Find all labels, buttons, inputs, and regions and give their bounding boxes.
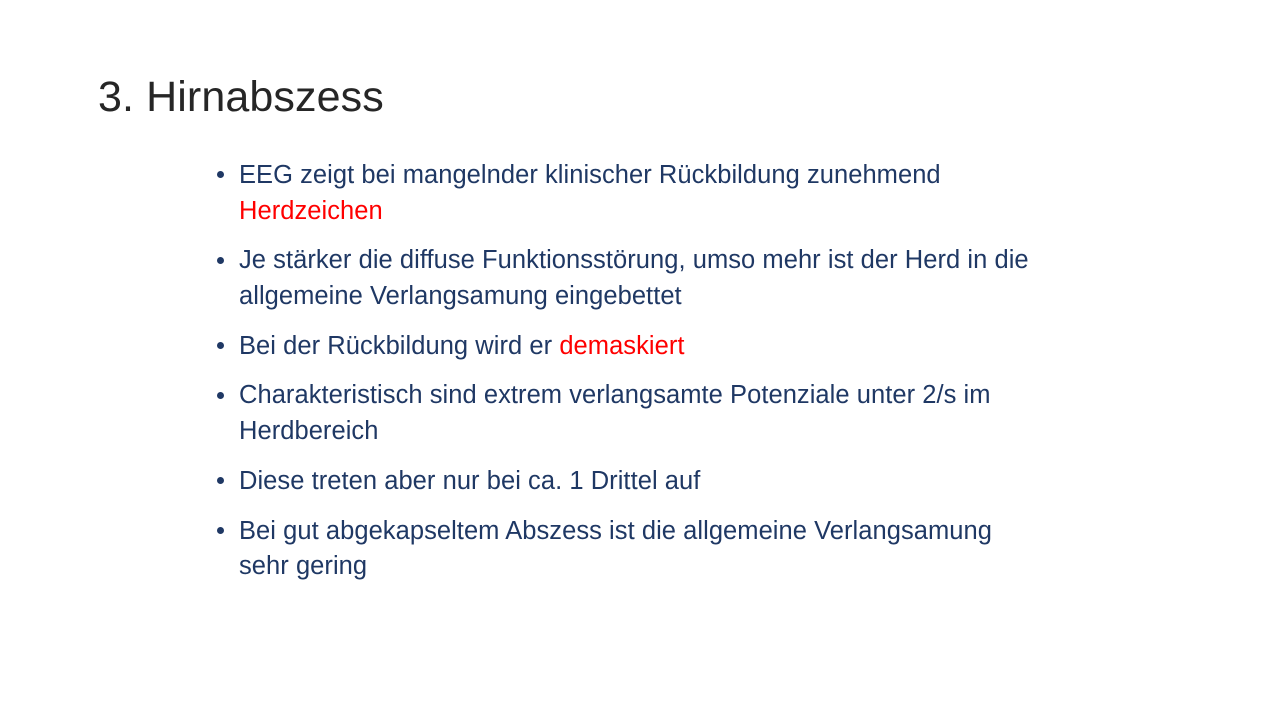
text-run: Diese treten aber nur bei ca. 1 Drittel … [239,467,700,495]
bullet-text: Je stärker die diffuse Funktionsstörung,… [239,243,1072,314]
bullet-dot-icon [217,477,224,484]
text-run: EEG zeigt bei mangelnder klinischer Rück… [239,161,941,189]
list-item: Je stärker die diffuse Funktionsstörung,… [212,243,1072,314]
bullet-dot-icon [217,392,224,399]
highlighted-term: Herdzeichen [239,197,383,225]
bullet-text: Diese treten aber nur bei ca. 1 Drittel … [239,464,1072,500]
bullet-dot-icon [217,257,224,264]
bullet-text: Bei der Rückbildung wird er demaskiert [239,329,1072,365]
bullet-text: EEG zeigt bei mangelnder klinischer Rück… [239,158,999,229]
list-item: Bei gut abgekapseltem Abszess ist die al… [212,514,999,585]
bullet-dot-icon [217,527,224,534]
bullet-dot-icon [217,342,224,349]
bullet-text: Charakteristisch sind extrem verlangsamt… [239,378,1072,449]
bullet-list: EEG zeigt bei mangelnder klinischer Rück… [212,158,1072,585]
bullet-text: Bei gut abgekapseltem Abszess ist die al… [239,514,999,585]
text-run: Je stärker die diffuse Funktionsstörung,… [239,246,1029,310]
list-item: Bei der Rückbildung wird er demaskiert [212,329,1072,365]
list-item: EEG zeigt bei mangelnder klinischer Rück… [212,158,999,229]
text-run: Charakteristisch sind extrem verlangsamt… [239,381,991,445]
text-run: Bei der Rückbildung wird er [239,332,559,360]
list-item: Diese treten aber nur bei ca. 1 Drittel … [212,464,1072,500]
slide-canvas: 3. Hirnabszess EEG zeigt bei mangelnder … [0,0,1280,720]
text-run: Bei gut abgekapseltem Abszess ist die al… [239,517,992,581]
slide-body: EEG zeigt bei mangelnder klinischer Rück… [212,158,1072,585]
list-item: Charakteristisch sind extrem verlangsamt… [212,378,1072,449]
page-title: 3. Hirnabszess [98,73,1098,121]
bullet-dot-icon [217,171,224,178]
highlighted-term: demaskiert [559,332,684,360]
